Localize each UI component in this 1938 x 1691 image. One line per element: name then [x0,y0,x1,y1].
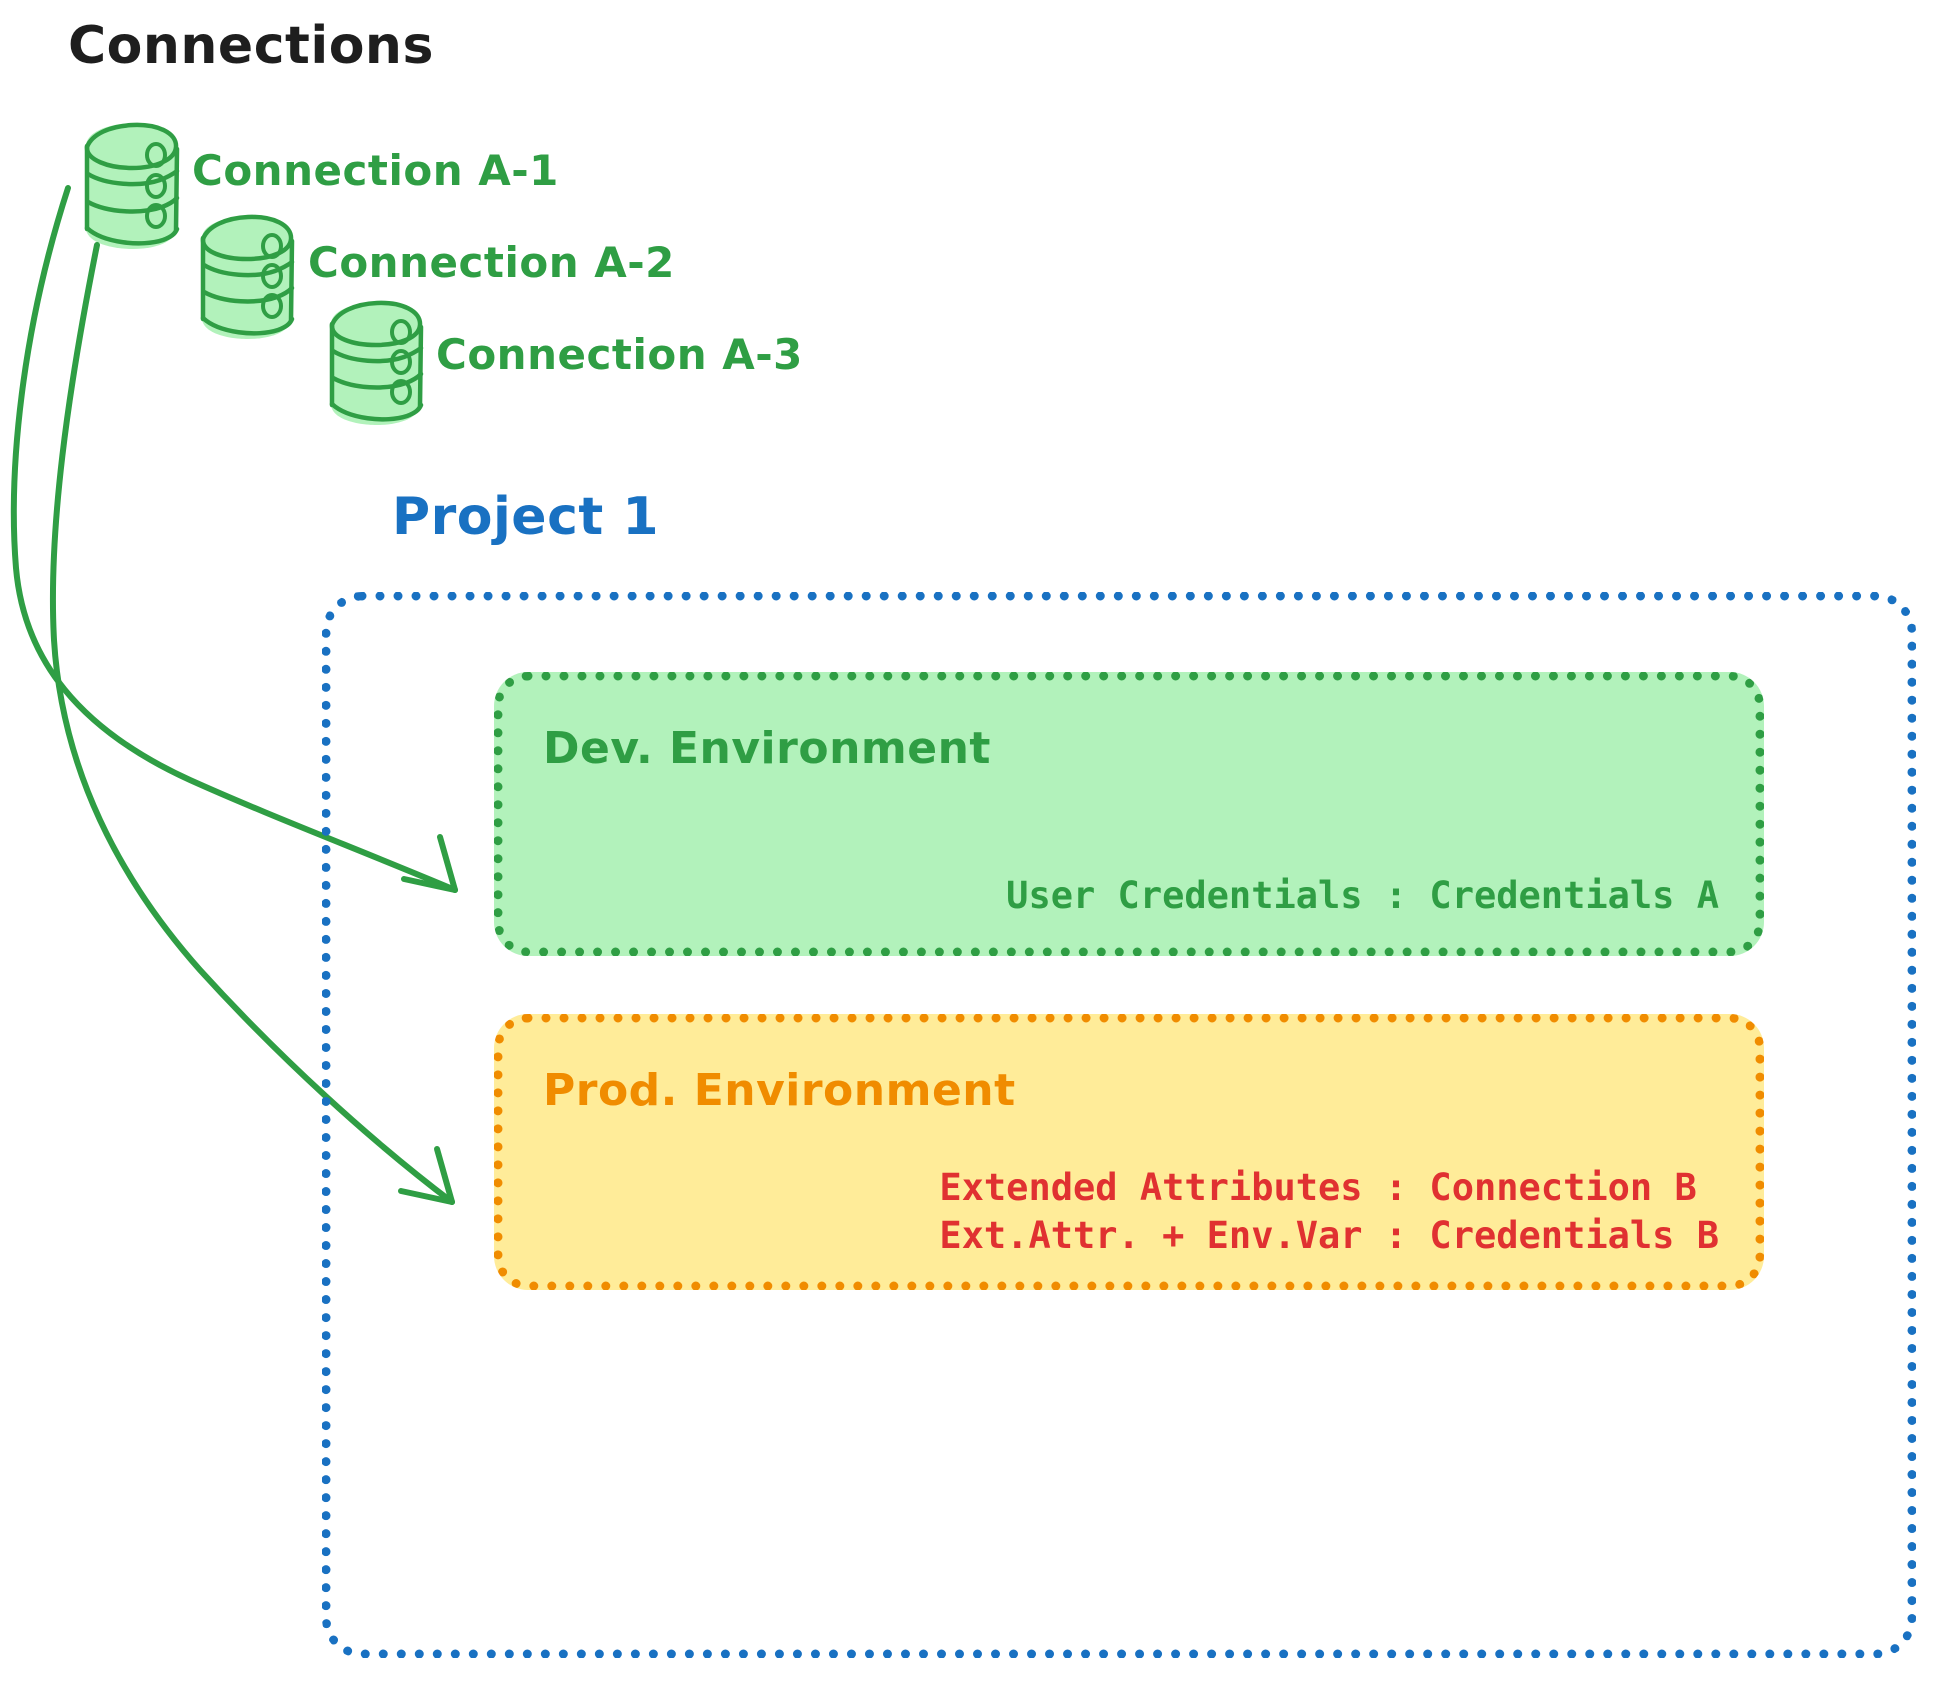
dev-environment-box[interactable]: Dev. Environment User Credentials : Cred… [494,672,1764,956]
dev-environment-detail-0: User Credentials : Credentials A [1006,874,1719,917]
database-cylinder-icon-3[interactable] [331,302,421,425]
prod-environment-details: Extended Attributes : Connection B Ext.A… [939,1164,1719,1259]
page-title: Connections [68,16,434,76]
prod-environment-box[interactable]: Prod. Environment Extended Attributes : … [494,1014,1764,1290]
project-title: Project 1 [392,487,659,547]
connection-label-a1: Connection A-1 [192,146,559,195]
database-cylinder-icon-2[interactable] [202,216,292,339]
database-cylinder-icon-1[interactable] [86,123,177,249]
connection-label-a3: Connection A-3 [436,330,803,379]
dev-environment-title: Dev. Environment [543,723,991,774]
connection-label-a2: Connection A-2 [308,238,675,287]
prod-environment-detail-0: Extended Attributes : Connection B [939,1164,1719,1211]
prod-environment-title: Prod. Environment [543,1065,1016,1116]
prod-environment-detail-1: Ext.Attr. + Env.Var : Credentials B [939,1212,1719,1259]
